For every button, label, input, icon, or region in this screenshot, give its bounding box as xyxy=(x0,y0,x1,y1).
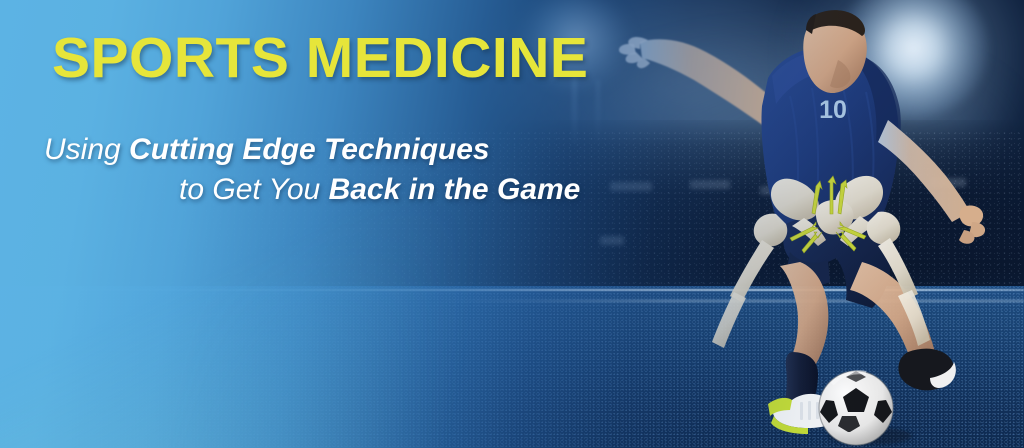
subtitle-line-2-bold: Back in the Game xyxy=(329,173,581,206)
subtitle-line-2: to Get You Back in the Game xyxy=(44,170,604,210)
subtitle-line-1-plain: Using xyxy=(44,133,129,166)
subtitle-line-1: Using Cutting Edge Techniques xyxy=(44,133,490,166)
sports-medicine-banner: 10 xyxy=(0,0,1024,448)
subtitle-line-2-plain: to Get You xyxy=(179,173,329,206)
subtitle-line-1-bold: Cutting Edge Techniques xyxy=(129,133,490,166)
page-title: SPORTS MEDICINE xyxy=(52,30,588,87)
subtitle: Using Cutting Edge Techniques to Get You… xyxy=(44,130,604,210)
